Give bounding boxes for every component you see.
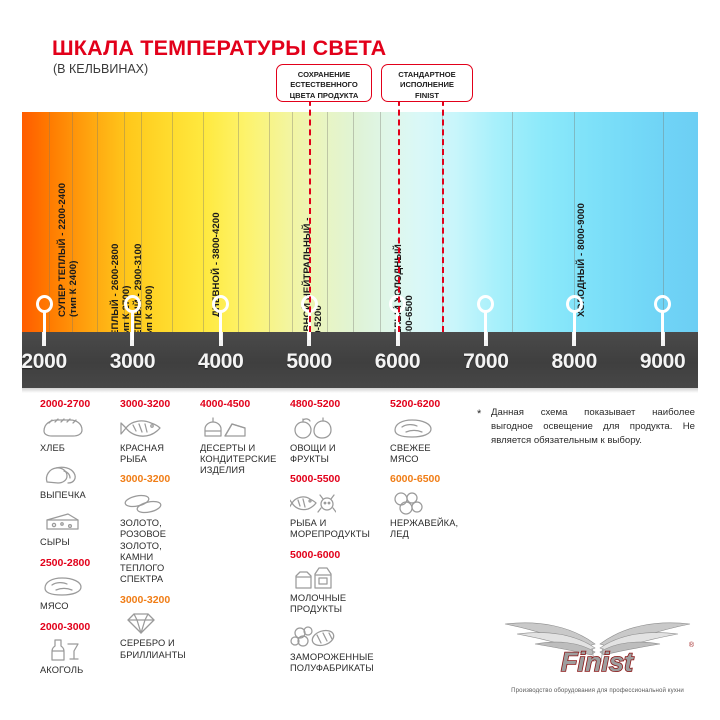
legend-column-4: 4800-5200 ОВОЩИ ИФРУКТЫ5000-5500 РЫБА ИМ… bbox=[290, 398, 390, 682]
callout-line: СТАНДАРТНОЕ bbox=[388, 70, 466, 80]
legend-entry-icon bbox=[120, 610, 198, 636]
legend-group: 2000-3000 АКОГОЛЬ bbox=[40, 621, 112, 677]
band-label-sub: (тип К 2400) bbox=[69, 183, 80, 317]
legend-entry-caption: РЫБА ИМОРЕПРОДУКТЫ bbox=[290, 518, 390, 541]
legend-range-label: 5200-6200 bbox=[390, 398, 478, 411]
caption-line: РОЗОВОЕ ЗОЛОТО, bbox=[120, 529, 198, 552]
caption-line: ЗАМОРОЖЕННЫЕ bbox=[290, 652, 390, 663]
cheese-icon bbox=[40, 509, 86, 535]
legend-entry: СЕРЕБРО ИБРИЛЛИАНТЫ bbox=[120, 610, 198, 661]
legend-entry-caption: СЕРЕБРО ИБРИЛЛИАНТЫ bbox=[120, 638, 198, 661]
legend-entry: РЫБА ИМОРЕПРОДУКТЫ bbox=[290, 490, 390, 541]
legend-group: 2000-2700 ХЛЕБ ВЫПЕЧКА СЫРЫ bbox=[40, 398, 112, 549]
caption-line: ФРУКТЫ bbox=[290, 454, 390, 465]
band-divider bbox=[269, 112, 270, 332]
caption-line: МЯСО bbox=[390, 454, 478, 465]
legend-entry-caption: НЕРЖАВЕЙКА,ЛЕД bbox=[390, 518, 478, 541]
band-divider bbox=[353, 112, 354, 332]
dairy-icon bbox=[290, 565, 336, 591]
legend-entry-caption: ХЛЕБ bbox=[40, 443, 112, 454]
pin-stem bbox=[484, 310, 487, 340]
legend-entry-caption: АКОГОЛЬ bbox=[40, 665, 112, 676]
legend-entry-caption: ДЕСЕРТЫ ИКОНДИТЕРСКИЕИЗДЕЛИЯ bbox=[200, 443, 288, 477]
pin-stem bbox=[219, 310, 222, 340]
legend-column-2: 3000-3200 КРАСНАЯРЫБА3000-3200 ЗОЛОТО,РО… bbox=[120, 398, 198, 669]
infographic-root: ШКАЛА ТЕМПЕРАТУРЫ СВЕТА (В КЕЛЬВИНАХ) СО… bbox=[0, 0, 720, 720]
legend-entry-icon bbox=[40, 462, 112, 488]
caption-line: ДЕСЕРТЫ И bbox=[200, 443, 288, 454]
legend-entry-caption: ОВОЩИ ИФРУКТЫ bbox=[290, 443, 390, 466]
legend-entry: СЫРЫ bbox=[40, 509, 112, 548]
legend-range-label: 3000-3200 bbox=[120, 398, 198, 411]
page-subtitle: (В КЕЛЬВИНАХ) bbox=[53, 62, 148, 76]
legend-entry-caption: МОЛОЧНЫЕ ПРОДУКТЫ bbox=[290, 593, 390, 616]
caption-line: МОРЕПРОДУКТЫ bbox=[290, 529, 390, 540]
logo-wordmark: Finist bbox=[561, 647, 634, 677]
band-divider bbox=[238, 112, 239, 332]
legend-entry-icon bbox=[120, 415, 198, 441]
bread-icon bbox=[40, 415, 86, 441]
caption-line: ИЗДЕЛИЯ bbox=[200, 465, 288, 476]
registered-mark: ® bbox=[689, 642, 694, 649]
legend-entry-icon bbox=[290, 565, 390, 591]
legend-entry-icon bbox=[40, 509, 112, 535]
caption-line: РЫБА И bbox=[290, 518, 390, 529]
band-label-name: СУПЕР ТЕПЛЫЙ - 2200-2400 bbox=[57, 183, 68, 317]
fresh-meat-icon bbox=[390, 415, 436, 441]
legend-entry-caption: МЯСО bbox=[40, 601, 112, 612]
diamond-icon bbox=[120, 610, 166, 636]
dashed-reference-line bbox=[309, 90, 311, 332]
legend-entry: МЯСО bbox=[40, 573, 112, 612]
steel-ice-icon bbox=[390, 490, 436, 516]
axis-tick-label: 3000 bbox=[110, 350, 156, 374]
band-label: СУПЕР ТЕПЛЫЙ - 2200-2400(тип К 2400) bbox=[58, 183, 79, 317]
band-label-name: ТЕПЛЫЙ - 2600-2800 bbox=[110, 244, 121, 342]
caption-line: БРИЛЛИАНТЫ bbox=[120, 650, 198, 661]
legend-entry: ДЕСЕРТЫ ИКОНДИТЕРСКИЕИЗДЕЛИЯ bbox=[200, 415, 288, 477]
band-divider bbox=[380, 112, 381, 332]
dessert-cake-icon bbox=[200, 415, 246, 441]
legend-group: 4000-4500 ДЕСЕРТЫ ИКОНДИТЕРСКИЕИЗДЕЛИЯ bbox=[200, 398, 288, 477]
legend-range-label: 3000-3200 bbox=[120, 594, 198, 607]
axis-tick-label: 5000 bbox=[286, 350, 332, 374]
footnote-marker: * bbox=[477, 408, 481, 420]
caption-line: ОВОЩИ И bbox=[290, 443, 390, 454]
axis-tick-label: 2000 bbox=[21, 350, 67, 374]
pin-stem bbox=[131, 310, 134, 340]
pastry-icon bbox=[40, 462, 86, 488]
fruits-vegetables-icon bbox=[290, 415, 336, 441]
legend-entry-caption: ЗОЛОТО,РОЗОВОЕ ЗОЛОТО,КАМНИ ТЕПЛОГОСПЕКТ… bbox=[120, 518, 198, 586]
legend-column-5: 5200-6200 СВЕЖЕЕМЯСО6000-6500 НЕРЖАВЕЙКА… bbox=[390, 398, 478, 549]
footnote-text: Данная схема показывает наиболее выгодно… bbox=[491, 406, 695, 448]
brand-logo: Finist ® Производство оборудования для п… bbox=[495, 618, 700, 696]
axis-tick-label: 4000 bbox=[198, 350, 244, 374]
legend-entry-icon bbox=[290, 490, 390, 516]
band-label-sub: 5800-6500 bbox=[405, 238, 416, 342]
caption-line: ЗОЛОТО, bbox=[120, 518, 198, 529]
bar-shadow bbox=[22, 388, 698, 393]
legend-column-3: 4000-4500 ДЕСЕРТЫ ИКОНДИТЕРСКИЕИЗДЕЛИЯ bbox=[200, 398, 288, 485]
axis-tick-label: 7000 bbox=[463, 350, 509, 374]
legend-entry-icon bbox=[40, 415, 112, 441]
legend-entry-icon bbox=[290, 415, 390, 441]
red-fish-icon bbox=[120, 415, 166, 441]
legend-entry-icon bbox=[200, 415, 288, 441]
legend-range-label: 2500-2800 bbox=[40, 557, 112, 570]
band-divider bbox=[172, 112, 173, 332]
footnote: * Данная схема показывает наиболее выгод… bbox=[477, 406, 695, 448]
caption-line: КРАСНАЯ bbox=[120, 443, 198, 454]
caption-line: КАМНИ ТЕПЛОГО bbox=[120, 552, 198, 575]
legend-group: 5000-6000 МОЛОЧНЫЕ ПРОДУКТЫ ЗАМОРОЖЕННЫЕ… bbox=[290, 549, 390, 675]
legend-group: 3000-3200 КРАСНАЯРЫБА bbox=[120, 398, 198, 465]
legend-range-label: 2000-2700 bbox=[40, 398, 112, 411]
band-label: ТЕПЛЫЙ - 2600-2800(тип К 2700) bbox=[111, 244, 132, 342]
gold-rings-icon bbox=[120, 490, 166, 516]
legend-range-label: 2000-3000 bbox=[40, 621, 112, 634]
legend-entry: ЗОЛОТО,РОЗОВОЕ ЗОЛОТО,КАМНИ ТЕПЛОГОСПЕКТ… bbox=[120, 490, 198, 586]
legend-entry-caption: ВЫПЕЧКА bbox=[40, 490, 112, 501]
legend-entry-icon bbox=[390, 415, 478, 441]
seafood-icon bbox=[290, 490, 336, 516]
band-label-name: ТЕПЛЫЙ - 2900-3100 bbox=[133, 244, 144, 342]
callout-line: ЕСТЕСТВЕННОГО bbox=[283, 80, 365, 90]
page-title: ШКАЛА ТЕМПЕРАТУРЫ СВЕТА bbox=[52, 36, 386, 61]
band-divider bbox=[327, 112, 328, 332]
legend-entry-icon bbox=[40, 637, 112, 663]
legend-group: 6000-6500 НЕРЖАВЕЙКА,ЛЕД bbox=[390, 473, 478, 540]
dashed-reference-line bbox=[398, 90, 400, 332]
axis-tick-label: 8000 bbox=[552, 350, 598, 374]
legend-entry: ЗАМОРОЖЕННЫЕПОЛУФАБРИКАТЫ bbox=[290, 624, 390, 675]
band-label-sub: (тип К 3000) bbox=[145, 244, 156, 342]
legend-entry-icon bbox=[120, 490, 198, 516]
legend-entry: МОЛОЧНЫЕ ПРОДУКТЫ bbox=[290, 565, 390, 616]
callout-line: СОХРАНЕНИЕ bbox=[283, 70, 365, 80]
legend-entry: АКОГОЛЬ bbox=[40, 637, 112, 676]
caption-line: КОНДИТЕРСКИЕ bbox=[200, 454, 288, 465]
caption-line: ВЫПЕЧКА bbox=[40, 490, 112, 501]
axis-tick-label: 6000 bbox=[375, 350, 421, 374]
legend-range-label: 3000-3200 bbox=[120, 473, 198, 486]
callout-line: ЦВЕТА ПРОДУКТА bbox=[283, 91, 365, 101]
caption-line: МЯСО bbox=[40, 601, 112, 612]
legend-entry-caption: КРАСНАЯРЫБА bbox=[120, 443, 198, 466]
caption-line: СЫРЫ bbox=[40, 537, 112, 548]
legend-range-label: 5000-6000 bbox=[290, 549, 390, 562]
legend-entry: ВЫПЕЧКА bbox=[40, 462, 112, 501]
legend-range-label: 5000-5500 bbox=[290, 473, 390, 486]
caption-line: АКОГОЛЬ bbox=[40, 665, 112, 676]
caption-line: МОЛОЧНЫЕ ПРОДУКТЫ bbox=[290, 593, 390, 616]
legend-entry-icon bbox=[390, 490, 478, 516]
legend-group: 5200-6200 СВЕЖЕЕМЯСО bbox=[390, 398, 478, 465]
legend-entry: КРАСНАЯРЫБА bbox=[120, 415, 198, 466]
legend-entry: ОВОЩИ ИФРУКТЫ bbox=[290, 415, 390, 466]
callout-line: ИСПОЛНЕНИЕ bbox=[388, 80, 466, 90]
legend-entry: СВЕЖЕЕМЯСО bbox=[390, 415, 478, 466]
callout-finist-standard: СТАНДАРТНОЕИСПОЛНЕНИЕFINIST bbox=[381, 64, 473, 102]
band-label: ТЕПЛЫЙ - 2900-3100(тип К 3000) bbox=[134, 244, 155, 342]
color-temperature-scale: СУПЕР ТЕПЛЫЙ - 2200-2400(тип К 2400)ТЕПЛ… bbox=[22, 112, 698, 332]
legend-entry: НЕРЖАВЕЙКА,ЛЕД bbox=[390, 490, 478, 541]
axis-tick-label: 9000 bbox=[640, 350, 686, 374]
caption-line: ПОЛУФАБРИКАТЫ bbox=[290, 663, 390, 674]
caption-line: ХЛЕБ bbox=[40, 443, 112, 454]
logo-tagline: Производство оборудования для профессион… bbox=[495, 687, 700, 694]
caption-line: ЛЕД bbox=[390, 529, 478, 540]
finist-wing-icon: Finist bbox=[495, 618, 700, 680]
band-divider bbox=[97, 112, 98, 332]
dashed-reference-line bbox=[442, 90, 444, 332]
caption-line: СПЕКТРА bbox=[120, 574, 198, 585]
legend-group: 4800-5200 ОВОЩИ ИФРУКТЫ bbox=[290, 398, 390, 465]
legend-entry-icon bbox=[40, 573, 112, 599]
legend-column-1: 2000-2700 ХЛЕБ ВЫПЕЧКА СЫРЫ2500-2800 МЯС… bbox=[40, 398, 112, 684]
legend-group: 2500-2800 МЯСО bbox=[40, 557, 112, 613]
pin-stem bbox=[661, 310, 664, 340]
legend-entry-icon bbox=[290, 624, 390, 650]
band-divider bbox=[292, 112, 293, 332]
band-divider bbox=[203, 112, 204, 332]
legend-group: 3000-3200 СЕРЕБРО ИБРИЛЛИАНТЫ bbox=[120, 594, 198, 661]
alcohol-bottle-icon bbox=[40, 637, 86, 663]
caption-line: СЕРЕБРО И bbox=[120, 638, 198, 649]
caption-line: СВЕЖЕЕ bbox=[390, 443, 478, 454]
frozen-food-icon bbox=[290, 624, 336, 650]
callout-line: FINIST bbox=[388, 91, 466, 101]
steak-icon bbox=[40, 573, 86, 599]
caption-line: РЫБА bbox=[120, 454, 198, 465]
legend-entry-caption: СЫРЫ bbox=[40, 537, 112, 548]
legend-range-label: 4000-4500 bbox=[200, 398, 288, 411]
legend-group: 3000-3200 ЗОЛОТО,РОЗОВОЕ ЗОЛОТО,КАМНИ ТЕ… bbox=[120, 473, 198, 586]
legend-range-label: 6000-6500 bbox=[390, 473, 478, 486]
legend-entry-caption: СВЕЖЕЕМЯСО bbox=[390, 443, 478, 466]
kelvin-axis-bar: 20003000400050006000700080009000 bbox=[22, 332, 698, 388]
callout-natural-color: СОХРАНЕНИЕЕСТЕСТВЕННОГОЦВЕТА ПРОДУКТА bbox=[276, 64, 372, 102]
legend-entry-caption: ЗАМОРОЖЕННЫЕПОЛУФАБРИКАТЫ bbox=[290, 652, 390, 675]
caption-line: НЕРЖАВЕЙКА, bbox=[390, 518, 478, 529]
pin-stem bbox=[573, 310, 576, 340]
pin-stem bbox=[43, 310, 46, 340]
legend-group: 5000-5500 РЫБА ИМОРЕПРОДУКТЫ bbox=[290, 473, 390, 540]
band-divider bbox=[512, 112, 513, 332]
legend-entry: ХЛЕБ bbox=[40, 415, 112, 454]
legend-range-label: 4800-5200 bbox=[290, 398, 390, 411]
